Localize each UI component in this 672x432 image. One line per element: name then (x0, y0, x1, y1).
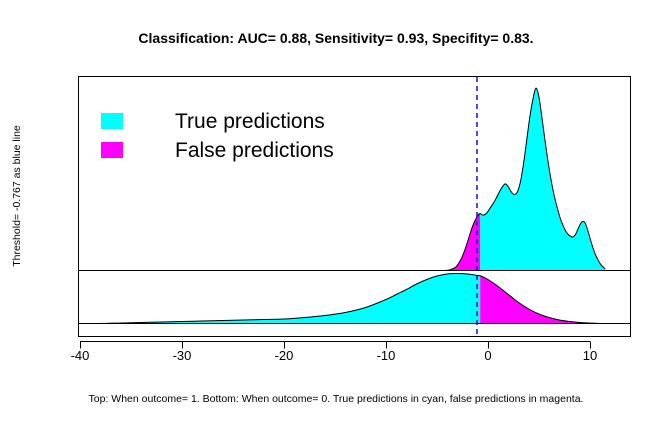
x-tick-label-2: -20 (261, 348, 307, 363)
roc-density-plot: Classification: AUC= 0.88, Sensitivity= … (0, 0, 672, 432)
legend-label-true: True predictions (175, 110, 325, 134)
bottom-panel-frame (79, 271, 631, 337)
x-tick-label-1: -30 (159, 348, 205, 363)
density-layer (80, 88, 610, 323)
legend-label-false: False predictions (175, 139, 334, 163)
x-tick-label-4: 0 (465, 348, 511, 363)
cyan-swatch (101, 113, 123, 129)
magenta-swatch (101, 142, 123, 158)
chart-canvas (0, 0, 672, 432)
x-tick-label-5: 10 (567, 348, 613, 363)
figure-caption: Top: When outcome= 1. Bottom: When outco… (0, 393, 672, 405)
x-tick-label-3: -10 (363, 348, 409, 363)
x-tick-label-0: -40 (57, 348, 103, 363)
x-axis (80, 342, 591, 349)
